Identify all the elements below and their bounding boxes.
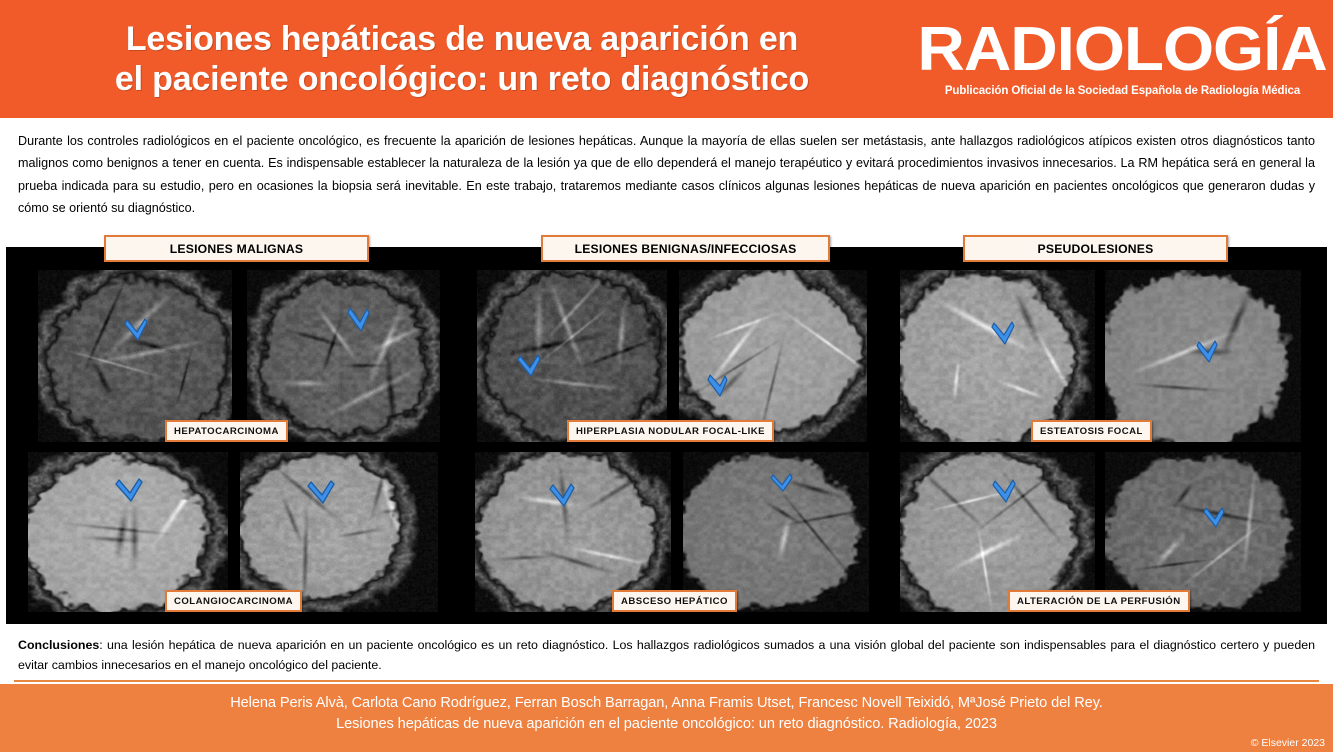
journal-logo-subtitle: Publicación Oficial de la Sociedad Españ… bbox=[945, 85, 1300, 97]
conclusions-heading: Conclusiones bbox=[18, 638, 99, 652]
figure-image-hepatocarcinoma-2 bbox=[247, 270, 440, 442]
conclusions-text: una lesión hepática de nueva aparición e… bbox=[18, 638, 1315, 672]
footer-copyright: © Elsevier 2023 bbox=[1251, 737, 1325, 749]
figure-image-hepatocarcinoma-1 bbox=[38, 270, 232, 442]
conclusions-block: Conclusiones: una lesión hepática de nue… bbox=[0, 628, 1333, 682]
conclusions-separator: : bbox=[99, 638, 107, 652]
figure-image-colangiocarcinoma-2 bbox=[240, 452, 438, 612]
poster-footer: Helena Peris Alvà, Carlota Cano Rodrígue… bbox=[0, 684, 1333, 752]
figure-image-absceso-1 bbox=[475, 452, 671, 612]
figure-image-colangiocarcinoma-1 bbox=[28, 452, 228, 612]
figure-image-hiperplasia-2 bbox=[679, 270, 867, 442]
figure-image-esteatosis-2 bbox=[1105, 270, 1301, 442]
figure-caption-alteracion-perfusion: ALTERACIÓN DE LA PERFUSIÓN bbox=[1008, 590, 1190, 612]
figure-image-hiperplasia-1 bbox=[477, 270, 667, 442]
section-header-lesiones-benignas: LESIONES BENIGNAS/INFECCIOSAS bbox=[541, 235, 830, 262]
poster-header: Lesiones hepáticas de nueva aparición en… bbox=[0, 0, 1333, 118]
figure-image-absceso-2 bbox=[683, 452, 869, 612]
page-title: Lesiones hepáticas de nueva aparición en… bbox=[115, 19, 809, 99]
page-title-line1: Lesiones hepáticas de nueva aparición en bbox=[126, 20, 798, 58]
figure-caption-colangiocarcinoma: COLANGIOCARCINOMA bbox=[165, 590, 302, 612]
header-title-block: Lesiones hepáticas de nueva aparición en… bbox=[0, 0, 920, 118]
figure-caption-esteatosis-focal: ESTEATOSIS FOCAL bbox=[1031, 420, 1152, 442]
figure-image-perfusion-2 bbox=[1105, 452, 1301, 612]
footer-citation: Lesiones hepáticas de nueva aparición en… bbox=[0, 714, 1333, 735]
section-header-pseudolesiones: PSEUDOLESIONES bbox=[963, 235, 1228, 262]
journal-logo-wordmark: RADIOLOGÍA bbox=[918, 21, 1327, 79]
page-title-line2: el paciente oncológico: un reto diagnóst… bbox=[115, 60, 809, 98]
poster-root: Lesiones hepáticas de nueva aparición en… bbox=[0, 0, 1333, 752]
abstract-text: Durante los controles radiológicos en el… bbox=[0, 118, 1333, 228]
figure-image-esteatosis-1 bbox=[900, 270, 1095, 442]
figure-image-perfusion-1 bbox=[900, 452, 1095, 612]
figure-caption-hiperplasia-nodular-focal-like: HIPERPLASIA NODULAR FOCAL-LIKE bbox=[567, 420, 774, 442]
conclusions-divider bbox=[14, 680, 1319, 682]
footer-authors: Helena Peris Alvà, Carlota Cano Rodrígue… bbox=[0, 693, 1333, 714]
journal-logo: RADIOLOGÍA Publicación Oficial de la Soc… bbox=[920, 0, 1333, 118]
figure-caption-hepatocarcinoma: HEPATOCARCINOMA bbox=[165, 420, 288, 442]
figure-caption-absceso-hepatico: ABSCESO HEPÁTICO bbox=[612, 590, 737, 612]
section-header-lesiones-malignas: LESIONES MALIGNAS bbox=[104, 235, 369, 262]
